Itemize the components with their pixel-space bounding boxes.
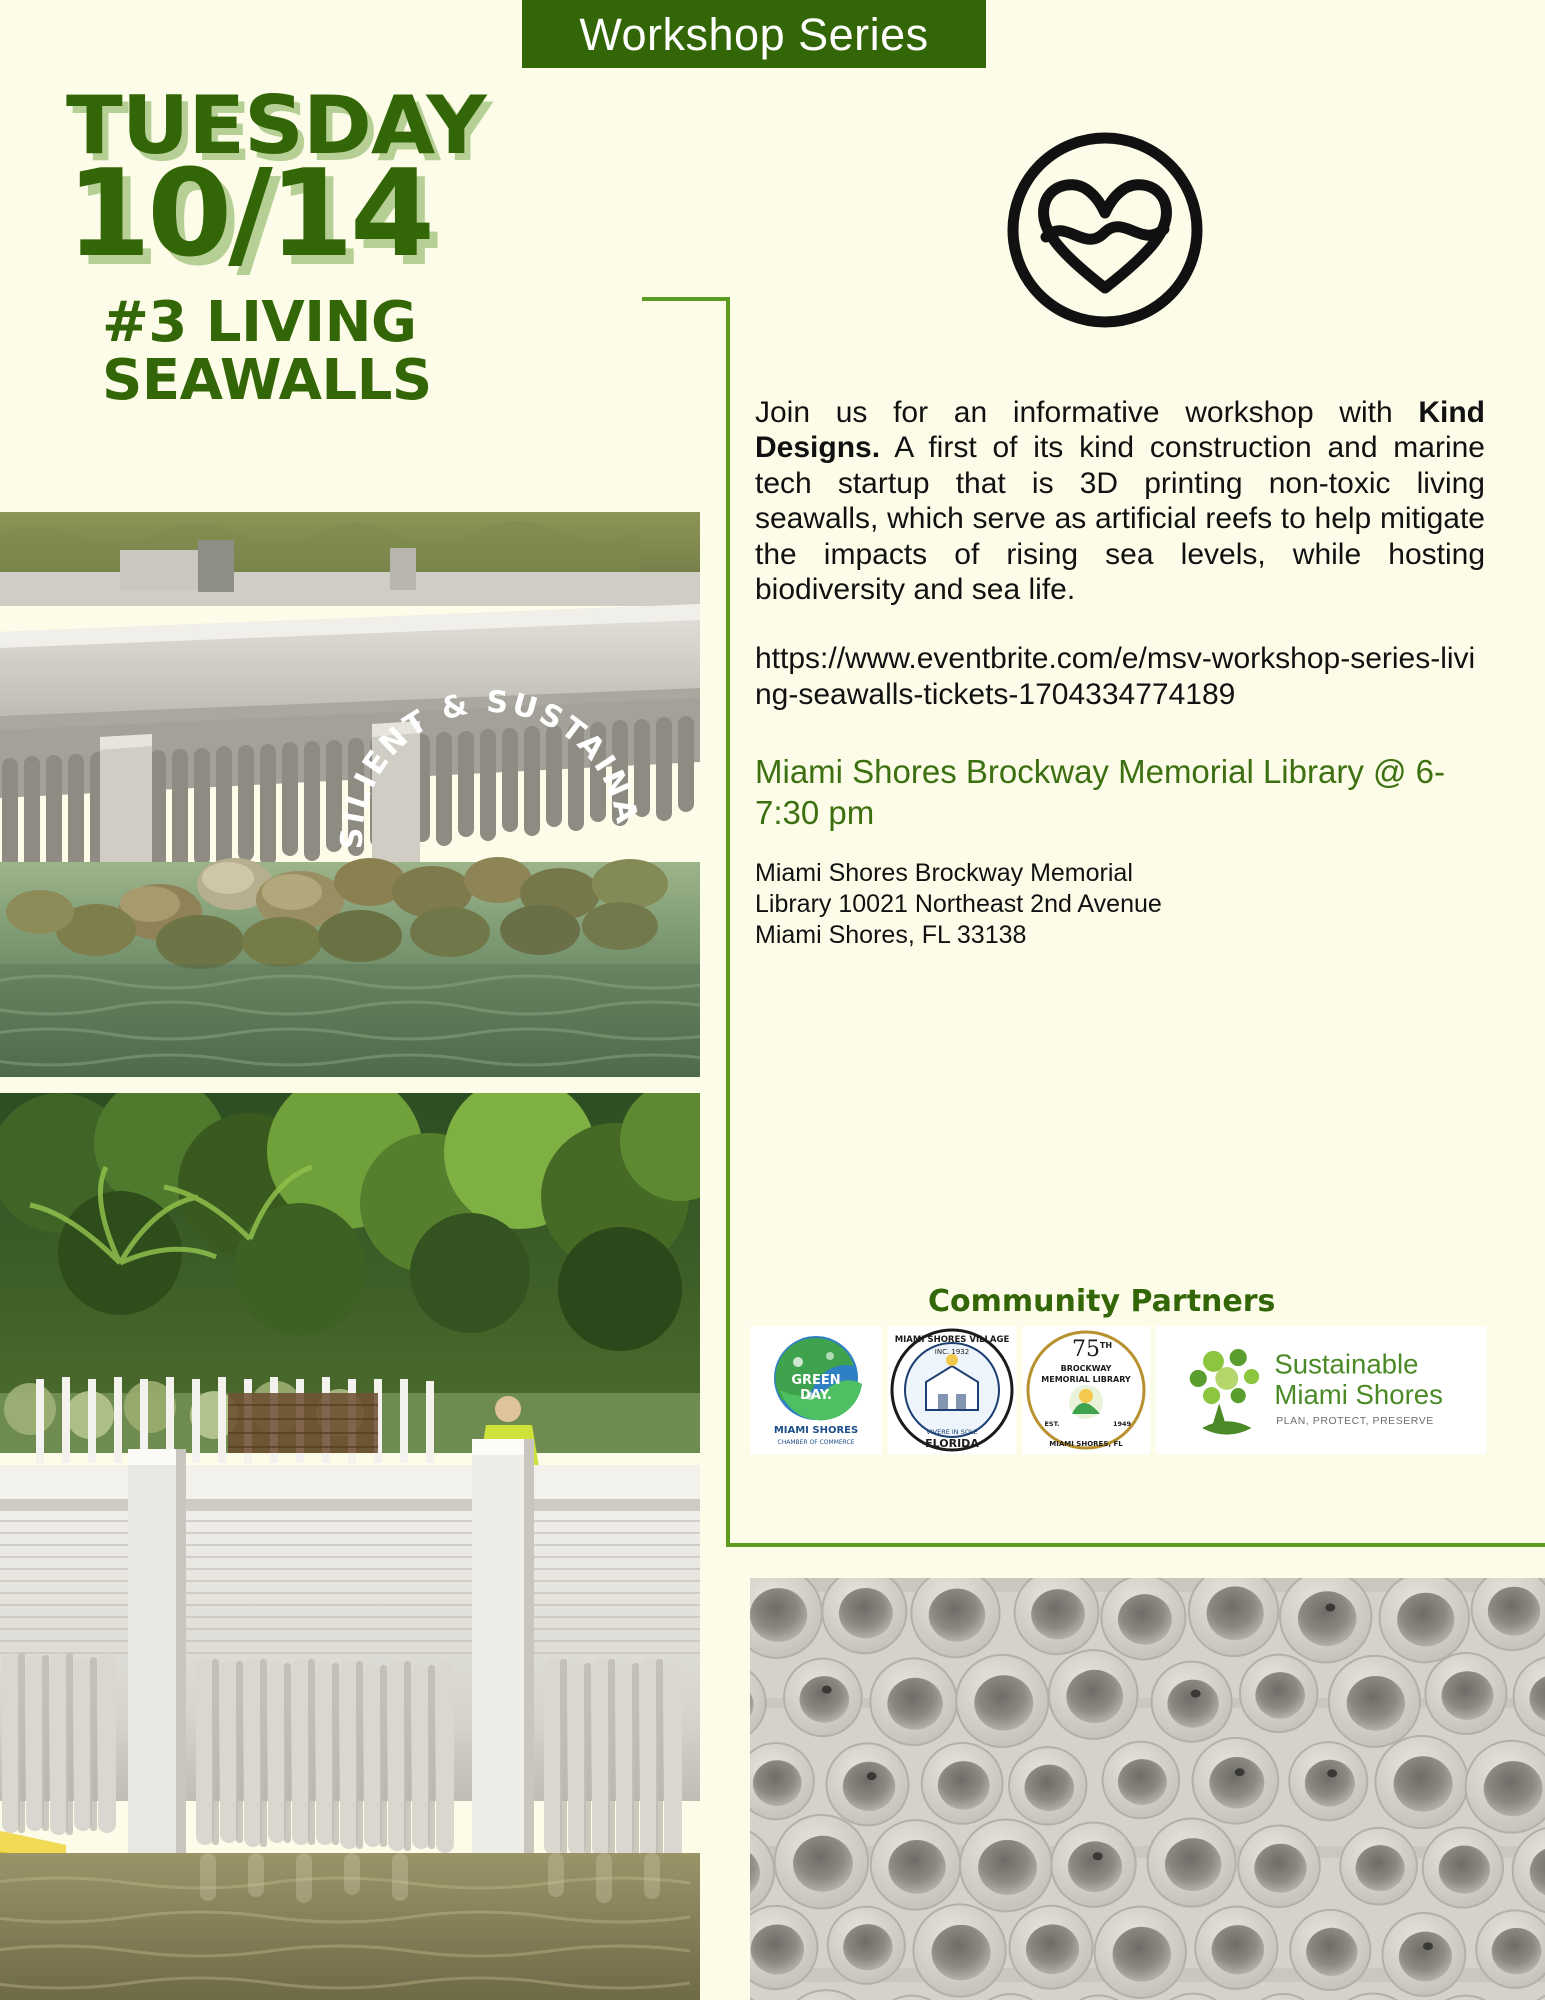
- partner-logo-brockway-library: 75 TH BROCKWAY MEMORIAL LIBRARY EST. 194…: [1022, 1326, 1150, 1454]
- workshop-subject: #3 LIVING SEAWALLS: [102, 294, 536, 409]
- svg-text:TH: TH: [1100, 1341, 1112, 1350]
- workshop-series-banner: Workshop Series: [522, 0, 986, 68]
- photo-3d-printed-living-seawall: [0, 1093, 700, 2000]
- svg-text:BROCKWAY: BROCKWAY: [1061, 1364, 1112, 1373]
- right-content-column: Join us for an informative workshop with…: [755, 395, 1485, 951]
- workshop-subject-line1: #3 LIVING: [102, 294, 536, 352]
- date-label: 10/14: [66, 160, 545, 270]
- divider-elbow: [642, 297, 730, 301]
- heart-wave-logo: [1000, 125, 1210, 335]
- partner-green-day-line2: MIAMI SHORES: [774, 1425, 858, 1436]
- svg-text:1949: 1949: [1113, 1420, 1132, 1428]
- workshop-series-label: Workshop Series: [579, 12, 928, 57]
- flyer-page: Workshop Series TUESDAY 10/14 #3 LIVING …: [0, 0, 1545, 2000]
- community-partners-heading: Community Partners: [928, 1284, 1275, 1319]
- svg-text:INC. 1932: INC. 1932: [935, 1348, 969, 1356]
- venue-headline: Miami Shores Brockway Memorial Library @…: [755, 752, 1485, 834]
- sustainable-line2: Miami Shores: [1274, 1379, 1443, 1410]
- svg-text:MIAMI SHORES VILLAGE: MIAMI SHORES VILLAGE: [895, 1335, 1010, 1345]
- svg-text:EST.: EST.: [1044, 1420, 1059, 1428]
- svg-text:FLORIDA: FLORIDA: [925, 1437, 979, 1450]
- svg-text:75: 75: [1072, 1337, 1100, 1362]
- workshop-description: Join us for an informative workshop with…: [755, 395, 1485, 607]
- vertical-divider: [726, 297, 730, 1547]
- partner-green-day-line3: CHAMBER OF COMMERCE: [778, 1439, 855, 1446]
- date-block: TUESDAY 10/14 #3 LIVING SEAWALLS: [66, 88, 536, 410]
- partner-logo-green-day: GREEN DAY. MIAMI SHORES CHAMBER OF COMME…: [750, 1326, 882, 1454]
- description-part1: Join us for an informative workshop with: [755, 396, 1418, 429]
- svg-text:VIVERE IN SOLE: VIVERE IN SOLE: [926, 1428, 977, 1436]
- venue-address: Miami Shores Brockway Memorial Library 1…: [755, 858, 1485, 951]
- photo-concrete-reef-modules: [750, 1578, 1545, 2000]
- workshop-subject-line2: SEAWALLS: [102, 352, 536, 410]
- photo-existing-seawall-with-rocks: [0, 512, 700, 1077]
- eventbrite-url[interactable]: https://www.eventbrite.com/e/msv-worksho…: [755, 641, 1485, 712]
- sustainable-line3: PLAN, PROTECT, PRESERVE: [1276, 1416, 1434, 1427]
- svg-text:DAY.: DAY.: [800, 1388, 832, 1403]
- svg-text:GREEN: GREEN: [791, 1373, 840, 1388]
- partner-logo-miami-shores-village: MIAMI SHORES VILLAGE INC. 1932 VIVERE IN…: [888, 1326, 1016, 1454]
- sustainable-line1: Sustainable: [1274, 1349, 1418, 1380]
- partner-logo-sustainable-miami-shores: Sustainable Miami Shores PLAN, PROTECT, …: [1156, 1326, 1486, 1454]
- community-partners-row: GREEN DAY. MIAMI SHORES CHAMBER OF COMME…: [750, 1325, 1510, 1455]
- svg-text:MIAMI SHORES, FL: MIAMI SHORES, FL: [1049, 1440, 1123, 1448]
- horizontal-divider: [726, 1543, 1545, 1547]
- svg-text:MEMORIAL LIBRARY: MEMORIAL LIBRARY: [1041, 1375, 1131, 1384]
